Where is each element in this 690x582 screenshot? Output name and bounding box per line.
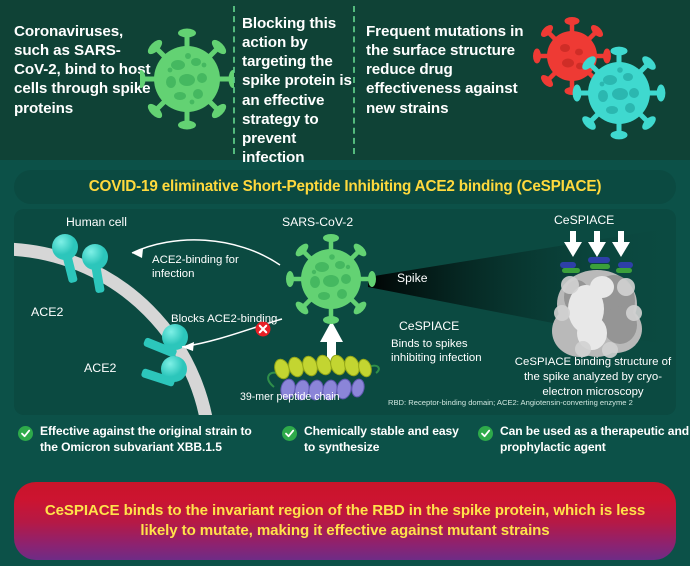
green-coronavirus-icon (140, 20, 234, 143)
ace2-receptor-4 (141, 356, 187, 387)
cryoem-caption: CeSPIACE binding structure of the spike … (506, 355, 676, 399)
top-panel-2: Blocking this action by targeting the sp… (232, 0, 352, 160)
top-panel-2-text: Blocking this action by targeting the sp… (242, 14, 360, 167)
conclusion-banner: CeSPIACE binds to the invariant region o… (14, 482, 676, 560)
check-circle-icon (282, 426, 297, 441)
mechanism-diagram: Human cell SARS-CoV-2 CeSPIACE ACE2 ACE2… (14, 209, 676, 415)
ace2-label-upper: ACE2 (31, 305, 63, 320)
check-circle-icon (18, 426, 33, 441)
benefit-item-1-text: Effective against the original strain to… (40, 424, 272, 482)
top-panel-1-text: Coronaviruses, such as SARS-CoV-2, bind … (14, 22, 154, 118)
panel-divider-1 (233, 6, 235, 154)
benefit-item-3-text: Can be used as a therapeutic and prophyl… (500, 424, 690, 482)
panel-divider-2 (353, 6, 355, 154)
top-panel-3-text: Frequent mutations in the surface struct… (366, 22, 526, 118)
bottom-strip (0, 566, 690, 582)
benefit-item-2: Chemically stable and easy to synthesize (272, 424, 472, 482)
check-circle-icon (478, 426, 493, 441)
red-and-cyan-coronavirus-icons (520, 10, 680, 155)
infographic-poster: Coronaviruses, such as SARS-CoV-2, bind … (0, 0, 690, 582)
top-panel-1: Coronaviruses, such as SARS-CoV-2, bind … (0, 0, 232, 160)
spike-label: Spike (397, 271, 428, 286)
top-panel-band: Coronaviruses, such as SARS-CoV-2, bind … (0, 0, 690, 160)
diagram-footnote: RBD: Receptor-binding domain; ACE2: Angi… (388, 398, 633, 407)
cespiace-mid-sublabel: Binds to spikes inhibiting infection (391, 337, 503, 366)
conclusion-banner-text: CeSPIACE binds to the invariant region o… (36, 501, 654, 540)
cespiace-down-arrows (564, 231, 630, 257)
peptide-chain-label: 39-mer peptide chain (240, 391, 340, 404)
human-cell-label: Human cell (66, 215, 127, 230)
ace2-label-lower: ACE2 (84, 361, 116, 376)
title-banner: COVID-19 eliminative Short-Peptide Inhib… (14, 170, 676, 204)
sars-cov-2-label: SARS-CoV-2 (282, 215, 353, 230)
cespiace-top-label: CeSPIACE (554, 213, 614, 228)
benefits-row: Effective against the original strain to… (0, 424, 690, 482)
benefit-item-3: Can be used as a therapeutic and prophyl… (472, 424, 690, 482)
cryoem-spike-structure (552, 257, 642, 358)
benefit-item-2-text: Chemically stable and easy to synthesize (304, 424, 472, 482)
benefit-item-1: Effective against the original strain to… (0, 424, 272, 482)
blocks-binding-note: Blocks ACE2-binding (171, 313, 277, 327)
title-banner-text: COVID-19 eliminative Short-Peptide Inhib… (89, 178, 602, 196)
top-panel-3: Frequent mutations in the surface struct… (352, 0, 690, 160)
ace2-binding-note: ACE2-binding for infection (152, 254, 248, 282)
sars-cov-2-virus-icon (286, 234, 376, 324)
cespiace-mid-label: CeSPIACE (399, 319, 459, 334)
